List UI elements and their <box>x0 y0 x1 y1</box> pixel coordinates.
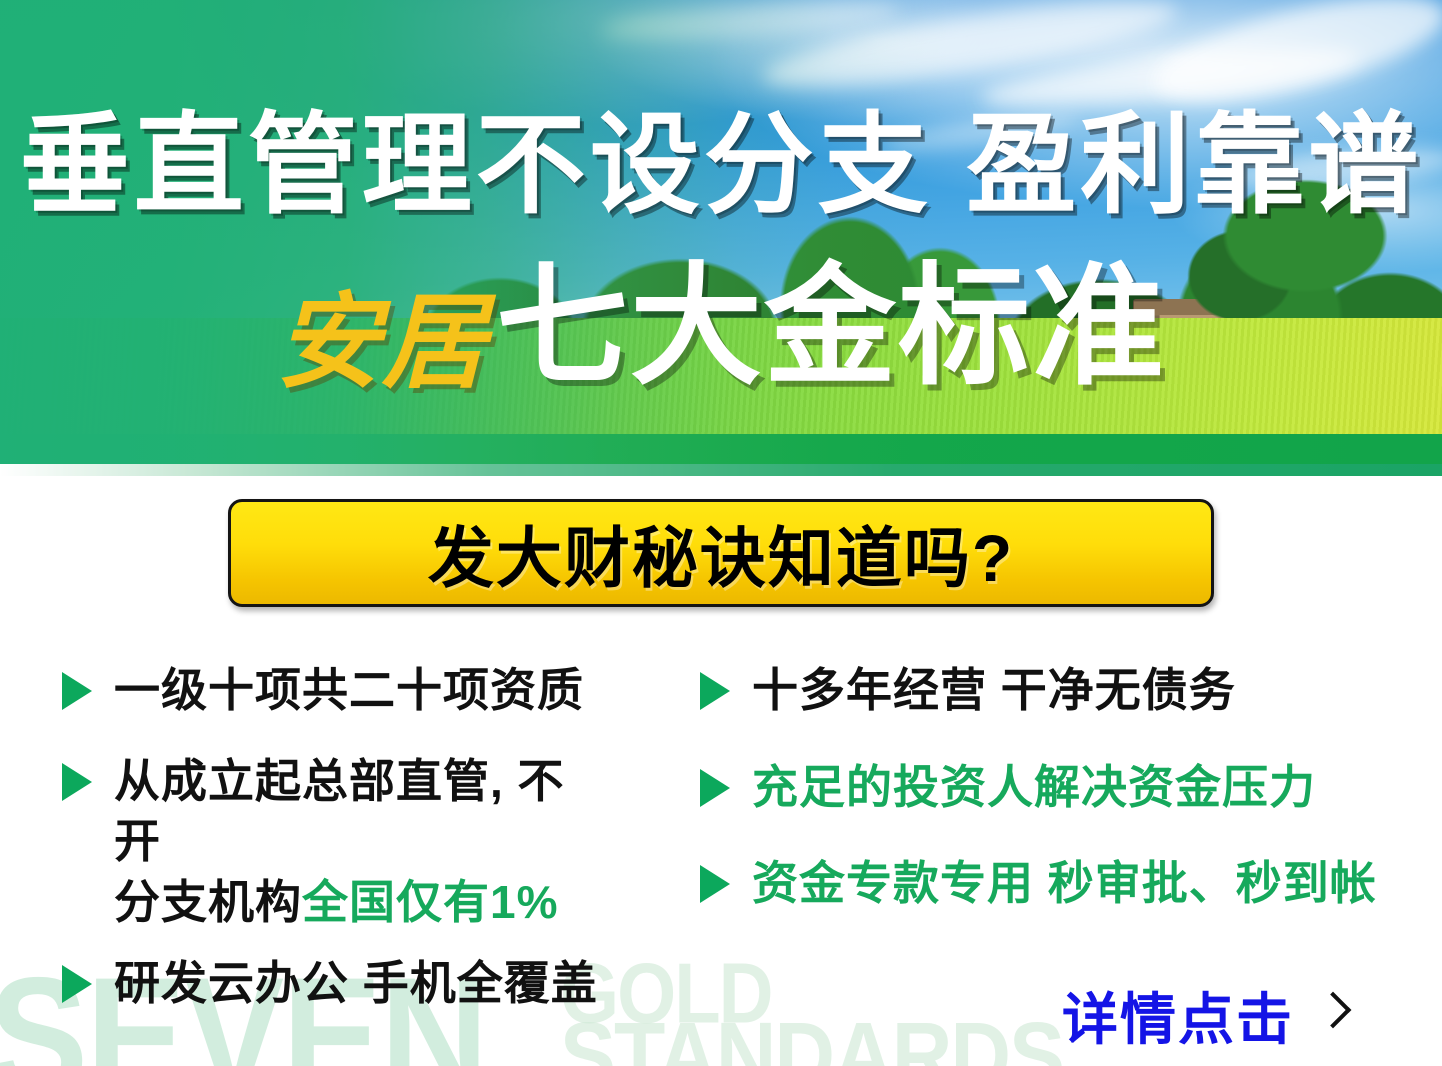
triangle-bullet-icon <box>700 865 730 903</box>
list-item: 研发云办公 手机全覆盖 <box>62 953 702 1014</box>
feature-text: 资金专款专用 秒审批、秒到帐 <box>752 853 1377 914</box>
feature-column-right: 十多年经营 干净无债务 充足的投资人解决资金压力 资金专款专用 秒审批、秒到帐 <box>700 660 1400 940</box>
hero-headline: 垂直管理不设分支 盈利靠谱 <box>0 108 1442 224</box>
triangle-bullet-icon <box>62 763 92 801</box>
detail-link-label: 详情点击 <box>1062 975 1294 1056</box>
chevron-right-icon <box>1318 993 1344 1039</box>
feature-text: 一级十项共二十项资质 <box>114 660 584 721</box>
feature-text: 十多年经营 干净无债务 <box>752 660 1236 721</box>
ad-banner: 垂直管理不设分支 盈利靠谱 安居七大金标准 发大财秘诀知道吗? SEVEN GO… <box>0 0 1442 1066</box>
headline-cta-bar[interactable]: 发大财秘诀知道吗? <box>228 499 1214 607</box>
list-item: 资金专款专用 秒审批、秒到帐 <box>700 853 1400 914</box>
list-item: 充足的投资人解决资金压力 <box>700 757 1400 818</box>
triangle-bullet-icon <box>62 672 92 710</box>
list-item: 一级十项共二十项资质 <box>62 660 702 721</box>
feature-text-highlight: 全国仅有1% <box>302 876 558 928</box>
feature-text: 研发云办公 手机全覆盖 <box>114 953 598 1014</box>
hero-section: 垂直管理不设分支 盈利靠谱 安居七大金标准 <box>0 0 1442 464</box>
feature-text-line2: 分支机构 <box>114 876 302 928</box>
hero-sub-main: 七大金标准 <box>496 253 1166 400</box>
hero-bottom-fade-strip <box>0 464 1442 476</box>
list-item: 从成立起总部直管, 不开分支机构全国仅有1% <box>62 751 702 933</box>
triangle-bullet-icon <box>700 672 730 710</box>
feature-text: 充足的投资人解决资金压力 <box>752 757 1316 818</box>
brand-name-anju: 安居 <box>276 285 488 401</box>
triangle-bullet-icon <box>700 769 730 807</box>
list-item: 十多年经营 干净无债务 <box>700 660 1400 721</box>
feature-list: 一级十项共二十项资质 从成立起总部直管, 不开分支机构全国仅有1% 研发云办公 … <box>0 660 1442 1000</box>
detail-link[interactable]: 详情点击 <box>1062 975 1344 1056</box>
feature-column-left: 一级十项共二十项资质 从成立起总部直管, 不开分支机构全国仅有1% 研发云办公 … <box>62 660 702 1040</box>
feature-text-line1: 从成立起总部直管, 不开 <box>114 755 565 868</box>
triangle-bullet-icon <box>62 965 92 1003</box>
headline-cta-label: 发大财秘诀知道吗? <box>428 505 1014 601</box>
feature-text: 从成立起总部直管, 不开分支机构全国仅有1% <box>114 751 584 933</box>
hero-subheadline: 安居七大金标准 <box>0 258 1442 398</box>
